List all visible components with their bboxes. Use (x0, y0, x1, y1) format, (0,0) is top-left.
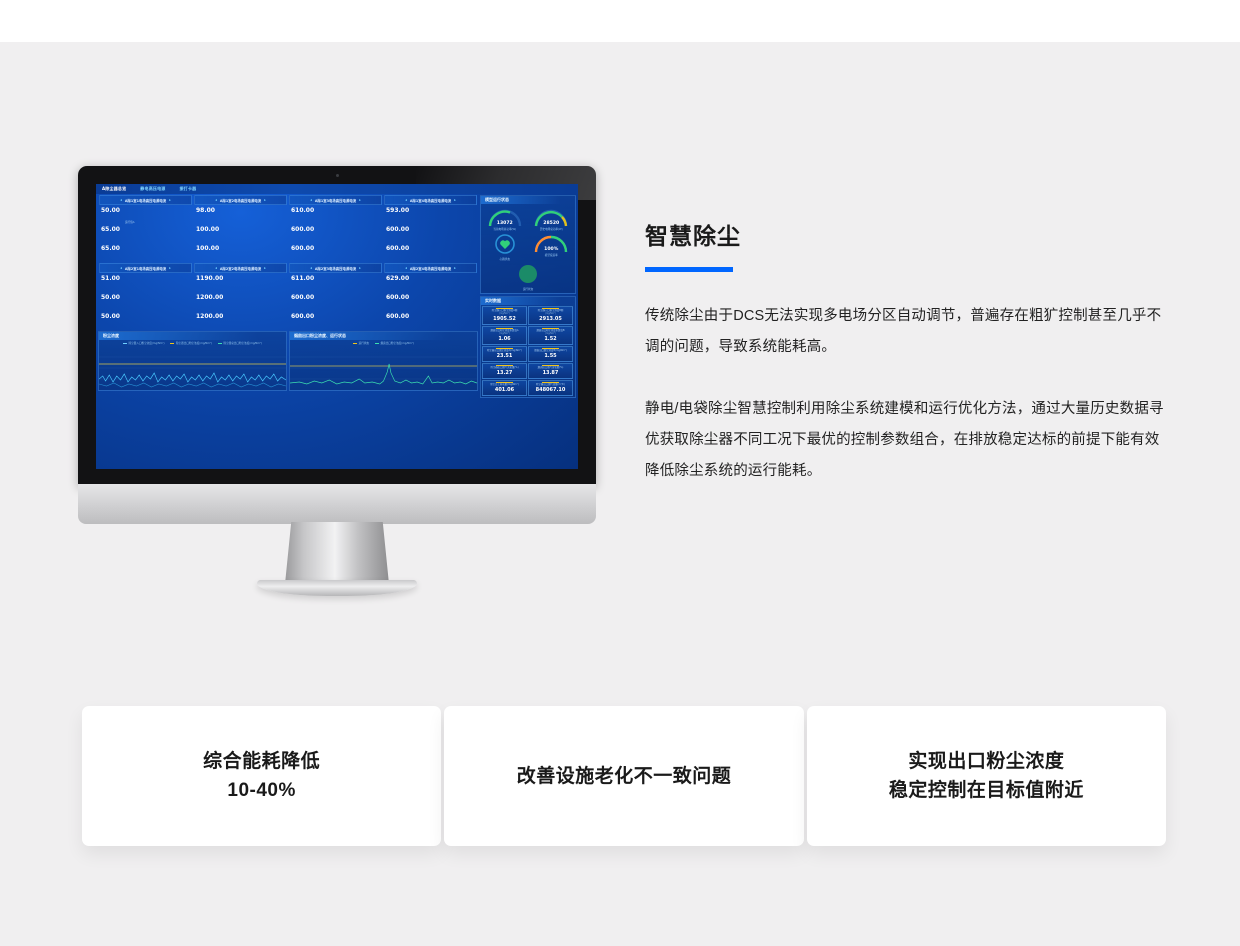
kpi-unit: (mg/Nm³) (530, 312, 571, 315)
kpi-value: 848067.10 (530, 387, 571, 393)
kpi-value: 2913.05 (530, 316, 571, 322)
metric-group-header: ◂ A除1室3电场高压电源电流 ▸ (289, 195, 382, 205)
next-icon[interactable]: ▸ (264, 198, 266, 202)
kpi-unit: (mg/Nm³) (530, 332, 571, 335)
metric-cell: 1190.00 (194, 274, 287, 293)
metric-cell: 600.00 (384, 293, 477, 312)
chart-panel-stack-outlet: 烟囱出口粉尘浓度、运行状态 运行状态 烟囱出口粉尘浓度(mg/Nm³) (289, 331, 478, 391)
next-icon[interactable]: ▸ (169, 266, 171, 270)
metric-group: ◂ A除1室2电场高压电源电流 ▸ 98.00 100.00 (193, 195, 288, 263)
kpi-card: 除尘总工耗电量(mg/Nm³) 401.06 (482, 380, 527, 396)
kpi-label: 烟囱出口烟尘浓度B(mg/Nm³) (530, 349, 571, 352)
kpi-panel-title: 实时数据 (481, 297, 575, 305)
metric-group-title: A除2室3电场高压电源电流 (315, 266, 356, 271)
chart-right-plot (290, 346, 477, 390)
benefit-card-text: 实现出口粉尘浓度 稳定控制在目标值附近 (889, 747, 1084, 805)
metric-group: ◂ A除1室3电场高压电源电流 ▸ 610.00 600.00 (288, 195, 383, 263)
metric-value: 611.00 (291, 275, 314, 283)
metric-value: 1200.00 (196, 294, 223, 302)
monitor-chin (78, 484, 596, 524)
chart-left-plot (99, 346, 286, 390)
prev-icon[interactable]: ◂ (310, 198, 312, 202)
metric-value: 600.00 (386, 226, 409, 234)
metric-group-title: A除1室2电场高压电源电流 (220, 198, 261, 203)
metric-grid-row-2: ◂ A除2室1电场高压电源电流 ▸ 51.00 50.00 (98, 263, 478, 331)
kpi-label: 除尘总工耗电量(mg/Nm³) (484, 383, 525, 386)
benefit-cards: 综合能耗降低 10-40% 改善设施老化不一致问题 实现出口粉尘浓度 稳定控制在… (82, 706, 1166, 846)
metric-value: 600.00 (291, 294, 314, 302)
metric-meta: 运行值A (125, 207, 135, 227)
kpi-card: 烟囱出口烟尘浓度B(mg/Nm³) 1.55 (528, 346, 573, 362)
dashboard: A除尘器总览 静电高压电源 振打卡器 ◂ A除1室1电场高压电源电流 ▸ (96, 184, 578, 469)
metric-value: 50.00 (101, 313, 123, 321)
metric-cell: 593.00 (384, 206, 477, 225)
metric-cell: 50.00 (99, 312, 192, 331)
metric-grid-row-1: ◂ A除1室1电场高压电源电流 ▸ 50.00 运行值A 65.00 (98, 195, 478, 263)
prev-icon[interactable]: ◂ (120, 266, 122, 270)
metric-cell: 611.00 (289, 274, 382, 293)
kpi-card: 除尘器出口烟气流量(m³/h) 848067.10 (528, 380, 573, 396)
metric-value: 65.00 (101, 226, 123, 234)
prev-icon[interactable]: ◂ (405, 266, 407, 270)
metric-value: 98.00 (196, 207, 218, 215)
metric-group: ◂ A除1室4电场高压电源电流 ▸ 593.00 600.00 (383, 195, 478, 263)
kpi-value: 23.51 (484, 353, 525, 359)
metric-group: ◂ A除2室1电场高压电源电流 ▸ 51.00 50.00 (98, 263, 193, 331)
kpi-value: 401.06 (484, 387, 525, 393)
metric-value: 593.00 (386, 207, 409, 215)
metric-value: 1200.00 (196, 313, 223, 321)
prev-icon[interactable]: ◂ (120, 198, 122, 202)
kpi-value: 1.06 (484, 336, 525, 342)
metric-group-header: ◂ A除1室2电场高压电源电流 ▸ (194, 195, 287, 205)
metric-cell: 50.00 (99, 293, 192, 312)
metric-cell: 600.00 (289, 244, 382, 263)
metric-cell: 600.00 (384, 312, 477, 331)
chart-panel-dust-concentration: 粉尘浓度 除尘器入口粉尘浓度(mg/Nm³) 除尘器出口粉尘浓度(mg/Nm³)… (98, 331, 287, 391)
metric-cell: 600.00 (384, 225, 477, 244)
kpi-value: 13.27 (484, 370, 525, 376)
metric-group-header: ◂ A除2室3电场高压电源电流 ▸ (289, 263, 382, 273)
kpi-label: 除尘器出口烟气流量(m³/h) (530, 383, 571, 386)
chart-row: 粉尘浓度 除尘器入口粉尘浓度(mg/Nm³) 除尘器出口粉尘浓度(mg/Nm³)… (98, 331, 478, 393)
info-paragraph-2: 静电/电袋除尘智慧控制利用除尘系统建模和运行优化方法，通过大量历史数据寻优获取除… (645, 394, 1165, 487)
gauge-model-uptime: 100% 模型投运率 (529, 232, 573, 261)
metric-group-header: ◂ A除2室2电场高压电源电流 ▸ (194, 263, 287, 273)
metric-value: 65.00 (101, 245, 123, 253)
metric-value: 100.00 (196, 245, 219, 253)
next-icon[interactable]: ▸ (359, 266, 361, 270)
kpi-grid: 除尘器入口粉尘浓度A侧 (mg/Nm³) 1905.52 除尘器入口粉尘浓度B侧… (481, 305, 575, 397)
monitor-screen: A除尘器总览 静电高压电源 振打卡器 ◂ A除1室1电场高压电源电流 ▸ (96, 184, 578, 469)
webcam-icon (336, 174, 339, 177)
next-icon[interactable]: ▸ (264, 266, 266, 270)
monitor-illustration: A除尘器总览 静电高压电源 振打卡器 ◂ A除1室1电场高压电源电流 ▸ (78, 166, 596, 516)
metric-cell: 600.00 (289, 225, 382, 244)
metric-group-title: A除1室4电场高压电源电流 (410, 198, 451, 203)
kpi-unit: (mg/Nm³) (484, 332, 525, 335)
benefit-card-1[interactable]: 综合能耗降低 10-40% (82, 706, 441, 846)
kpi-card: 除尘器入口粉尘浓度A侧 (mg/Nm³) 1905.52 (482, 306, 527, 325)
run-status-badge: 运行状态 (506, 262, 550, 291)
status-panel-title: 模型运行状态 (481, 196, 575, 204)
benefit-card-2[interactable]: 改善设施老化不一致问题 (444, 706, 803, 846)
kpi-card: 除尘器出口烟气含氧量(%) 13.27 (482, 363, 527, 379)
dashboard-tab-2[interactable]: 振打卡器 (180, 186, 197, 192)
metric-value: 610.00 (291, 207, 314, 215)
info-paragraph-1: 传统除尘由于DCS无法实现多电场分区自动调节，普遍存在粗犷控制甚至几乎不调的问题… (645, 301, 1165, 363)
metric-cell: 100.00 (194, 225, 287, 244)
status-panel: 模型运行状态 13072 当前电场总功率(W) (480, 195, 576, 294)
metric-value: 100.00 (196, 226, 219, 234)
metric-value: 600.00 (291, 313, 314, 321)
metric-cell: 51.00 (99, 274, 192, 293)
gauge-current-power: 13072 当前电场总功率(W) (483, 206, 527, 231)
metric-cell: 629.00 (384, 274, 477, 293)
metric-group-title: A除2室2电场高压电源电流 (220, 266, 261, 271)
metric-value: 600.00 (386, 245, 409, 253)
kpi-value: 1.52 (530, 336, 571, 342)
kpi-card: 烟囱出口粉尘浓度折算值B (mg/Nm³) 1.52 (528, 326, 573, 345)
metric-group-title: A除1室3电场高压电源电流 (315, 198, 356, 203)
kpi-unit: (mg/Nm³) (484, 312, 525, 315)
title-accent-bar (645, 267, 733, 272)
metric-group: ◂ A除2室2电场高压电源电流 ▸ 1190.00 1200.00 (193, 263, 288, 331)
legend-item: 除尘器出口粉尘浓度(mg/Nm³) (170, 341, 211, 345)
legend-swatch-icon (170, 343, 174, 344)
metric-group: ◂ A除1室1电场高压电源电流 ▸ 50.00 运行值A 65.00 (98, 195, 193, 263)
dashboard-tab-1[interactable]: 静电高压电源 (140, 186, 165, 192)
metric-group: ◂ A除2室4电场高压电源电流 ▸ 629.00 600.00 (383, 263, 478, 331)
next-icon[interactable]: ▸ (169, 198, 171, 202)
gauge-label: 当前电场总功率(W) (483, 227, 527, 231)
benefit-card-text: 综合能耗降低 10-40% (203, 747, 320, 805)
metric-group-header: ◂ A除2室4电场高压电源电流 ▸ (384, 263, 477, 273)
dashboard-tabbar: A除尘器总览 静电高压电源 振打卡器 (96, 184, 578, 194)
page-title: 智慧除尘 (645, 221, 1165, 251)
kpi-label: 烟囱出口烟气含氧量(%) (530, 366, 571, 369)
metric-value: 600.00 (386, 313, 409, 321)
kpi-card: 除尘器入口粉尘浓度B侧 (mg/Nm³) 2913.05 (528, 306, 573, 325)
next-icon[interactable]: ▸ (454, 266, 456, 270)
monitor-stand-base (257, 580, 417, 596)
metric-cell: 600.00 (289, 293, 382, 312)
legend-swatch-icon (123, 343, 127, 344)
metric-cell: 65.00 (99, 225, 192, 244)
metric-group-title: A除2室1电场高压电源电流 (125, 266, 166, 271)
benefit-card-3[interactable]: 实现出口粉尘浓度 稳定控制在目标值附近 (807, 706, 1166, 846)
prev-icon[interactable]: ◂ (405, 198, 407, 202)
kpi-value: 13.87 (530, 370, 571, 376)
run-status-label: 运行状态 (506, 287, 550, 291)
metric-cell: 65.00 (99, 244, 192, 263)
dashboard-left-column: ◂ A除1室1电场高压电源电流 ▸ 50.00 运行值A 65.00 (98, 195, 478, 467)
metric-cell: 1200.00 (194, 293, 287, 312)
metric-group-header: ◂ A除1室1电场高压电源电流 ▸ (99, 195, 192, 205)
metric-value: 600.00 (386, 294, 409, 302)
next-icon[interactable]: ▸ (454, 198, 456, 202)
metric-cell: 600.00 (289, 312, 382, 331)
metric-value: 50.00 (101, 294, 123, 302)
dashboard-tab-0[interactable]: A除尘器总览 (102, 186, 126, 192)
prev-icon[interactable]: ◂ (215, 198, 217, 202)
prev-icon[interactable]: ◂ (215, 266, 217, 270)
gauge-label: 历史电场总功率(W) (529, 227, 573, 231)
metric-value: 600.00 (291, 245, 314, 253)
chart-right-title: 烟囱出口粉尘浓度、运行状态 (290, 332, 477, 340)
metric-cell: 100.00 (194, 244, 287, 263)
next-icon[interactable]: ▸ (359, 198, 361, 202)
metric-group-header: ◂ A除2室1电场高压电源电流 ▸ (99, 263, 192, 273)
gauge-group: 13072 当前电场总功率(W) 28520 (481, 204, 575, 293)
kpi-card: 烟囱出口粉尘浓度折算值A (mg/Nm³) 1.06 (482, 326, 527, 345)
kpi-label: 除尘器出口烟尘浓度A(mg/Nm³) (484, 349, 525, 352)
hero-section: A除尘器总览 静电高压电源 振打卡器 ◂ A除1室1电场高压电源电流 ▸ (0, 42, 1240, 662)
metric-group: ◂ A除2室3电场高压电源电流 ▸ 611.00 600.00 (288, 263, 383, 331)
legend-swatch-icon (375, 343, 379, 344)
legend-item: 运行状态 (353, 341, 369, 345)
metric-value: 600.00 (291, 226, 314, 234)
kpi-card: 除尘器出口烟尘浓度A(mg/Nm³) 23.51 (482, 346, 527, 362)
metric-cell: 98.00 (194, 206, 287, 225)
legend-swatch-icon (218, 343, 222, 344)
prev-icon[interactable]: ◂ (310, 266, 312, 270)
metric-cell: 50.00 运行值A (99, 206, 192, 225)
heartbeat-badge: 心跳状态 (483, 232, 527, 261)
kpi-card: 烟囱出口烟气含氧量(%) 13.87 (528, 363, 573, 379)
kpi-value: 1905.52 (484, 316, 525, 322)
legend-swatch-icon (353, 343, 357, 344)
metric-group-title: A除1室1电场高压电源电流 (125, 198, 166, 203)
metric-group-header: ◂ A除1室4电场高压电源电流 ▸ (384, 195, 477, 205)
metric-cell: 600.00 (384, 244, 477, 263)
metric-cell: 610.00 (289, 206, 382, 225)
monitor-bezel: A除尘器总览 静电高压电源 振打卡器 ◂ A除1室1电场高压电源电流 ▸ (78, 166, 596, 486)
chart-left-title: 粉尘浓度 (99, 332, 286, 340)
kpi-panel: 实时数据 除尘器入口粉尘浓度A侧 (mg/Nm³) 1905.52 除尘器入口粉… (480, 296, 576, 398)
kpi-label: 除尘器出口烟气含氧量(%) (484, 366, 525, 369)
metric-value: 1190.00 (196, 275, 223, 283)
heartbeat-label: 心跳状态 (483, 257, 527, 261)
legend-item: 烟囱出口粉尘浓度(mg/Nm³) (375, 341, 414, 345)
info-column: 智慧除尘 传统除尘由于DCS无法实现多电场分区自动调节，普遍存在粗犷控制甚至几乎… (645, 221, 1165, 487)
gauge-history-power: 28520 历史电场总功率(W) (529, 206, 573, 231)
benefit-card-text: 改善设施老化不一致问题 (517, 762, 732, 791)
monitor-stand-neck (285, 522, 389, 584)
legend-item: 除尘器入口粉尘浓度(mg/Nm³) (123, 341, 164, 345)
gauge-label: 模型投运率 (529, 253, 573, 257)
metric-value: 51.00 (101, 275, 123, 283)
metric-label: 运行值A (125, 221, 135, 224)
metric-cell: 1200.00 (194, 312, 287, 331)
metric-value: 629.00 (386, 275, 409, 283)
metric-group-title: A除2室4电场高压电源电流 (410, 266, 451, 271)
kpi-value: 1.55 (530, 353, 571, 359)
metric-value: 50.00 (101, 207, 123, 215)
legend-item: 除尘器总出口粉尘浓度(mg/Nm³) (218, 341, 262, 345)
dashboard-right-column: 模型运行状态 13072 当前电场总功率(W) (480, 195, 576, 467)
